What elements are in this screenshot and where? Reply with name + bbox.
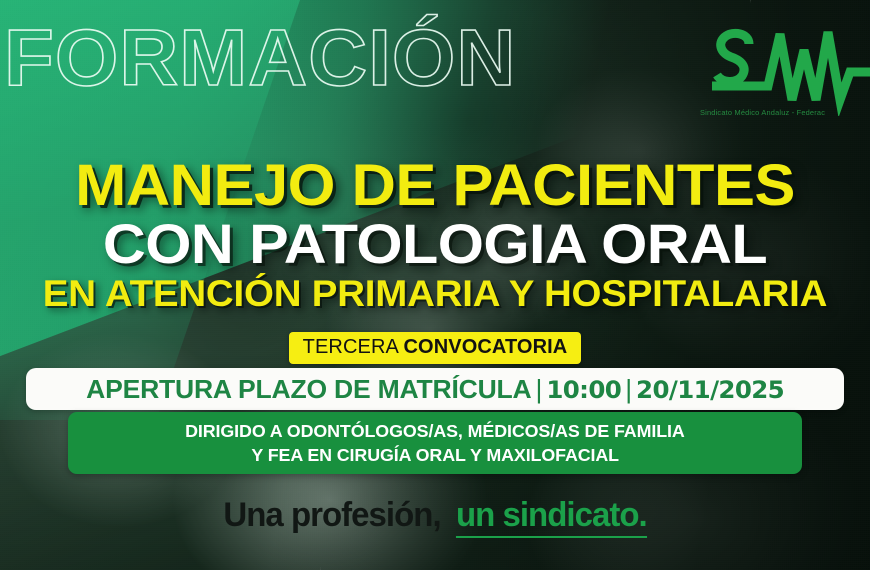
convocatoria-badge-wrap: TERCERA CONVOCATORIA xyxy=(0,332,870,364)
enrollment-label: APERTURA PLAZO DE MATRÍCULA xyxy=(86,374,531,404)
tagline-part-1: Una profesión, xyxy=(224,496,441,535)
title-line-3: EN ATENCIÓN PRIMARIA Y HOSPITALARIA xyxy=(0,276,870,312)
training-course-poster: FORMACIÓN Sindicato Médico Andaluz - Fed… xyxy=(0,0,870,570)
audience-box: DIRIGIDO A ODONTÓLOGOS/AS, MÉDICOS/AS DE… xyxy=(68,412,802,474)
convocatoria-badge: TERCERA CONVOCATORIA xyxy=(289,332,582,364)
enrollment-separator-1: | xyxy=(531,374,546,404)
title-line-1: MANEJO DE PACIENTES xyxy=(0,158,870,215)
tagline-part-2: un sindicato. xyxy=(456,496,647,538)
eyebrow-formacion: FORMACIÓN xyxy=(4,18,516,98)
badge-prefix: TERCERA xyxy=(303,336,398,358)
sma-ecg-logo-icon xyxy=(700,20,870,116)
sma-logo-caption: Sindicato Médico Andaluz - Federac xyxy=(700,108,870,117)
audience-line-1: DIRIGIDO A ODONTÓLOGOS/AS, MÉDICOS/AS DE… xyxy=(185,421,685,442)
audience-line-2: Y FEA EN CIRUGÍA ORAL Y MAXILOFACIAL xyxy=(251,445,619,466)
title-line-2: CON PATOLOGIA ORAL xyxy=(0,217,870,272)
enrollment-text: APERTURA PLAZO DE MATRÍCULA|10:00|20/11/… xyxy=(86,374,784,405)
enrollment-bar: APERTURA PLAZO DE MATRÍCULA|10:00|20/11/… xyxy=(26,368,844,410)
poster-title-block: MANEJO DE PACIENTES CON PATOLOGIA ORAL E… xyxy=(0,158,870,312)
badge-emphasis: CONVOCATORIA xyxy=(404,336,568,358)
enrollment-time: 10:00 xyxy=(546,376,621,404)
enrollment-date: 20/11/2025 xyxy=(636,376,784,404)
enrollment-separator-2: | xyxy=(621,374,636,404)
brand-tagline: Una profesión, un sindicato. xyxy=(0,496,870,538)
sma-logo[interactable]: Sindicato Médico Andaluz - Federac xyxy=(700,20,870,116)
